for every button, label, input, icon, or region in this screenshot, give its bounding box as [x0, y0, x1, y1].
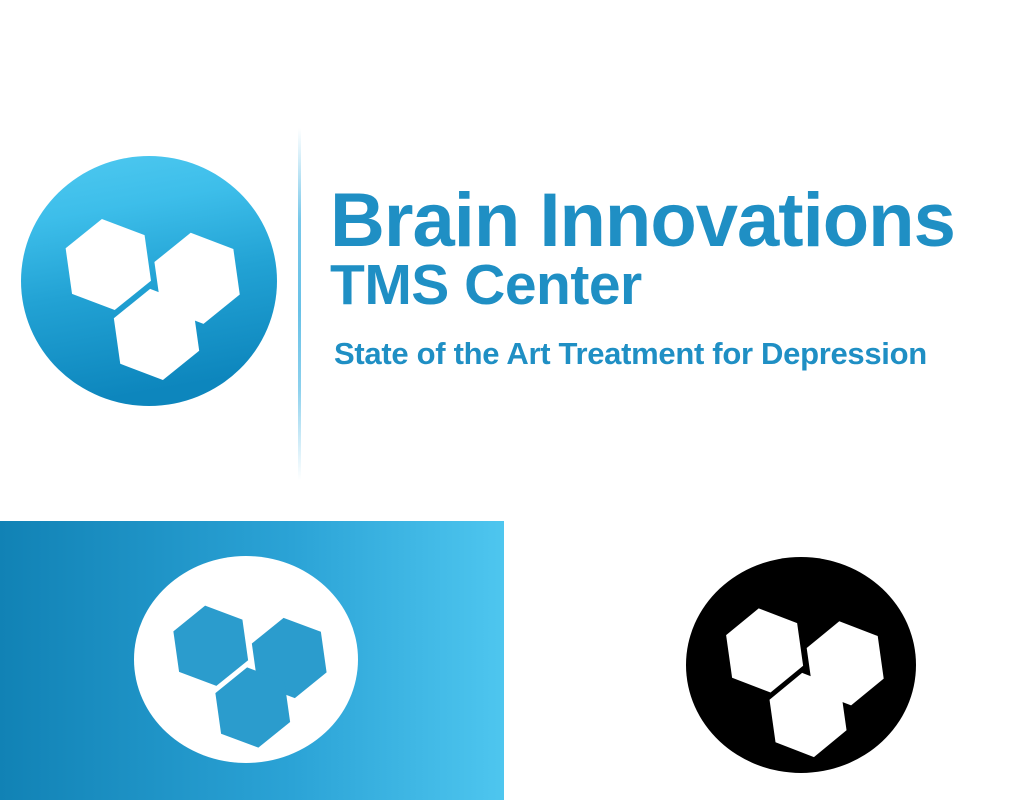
logo-sheet: Brain Innovations TMS Center State of th…	[0, 0, 1028, 800]
hexagon-cluster-circle-icon	[20, 155, 278, 407]
company-name: Brain Innovations	[330, 188, 1020, 253]
reversed-logo-panel	[0, 521, 504, 800]
hexagon-cluster-ellipse-black-icon	[685, 556, 917, 774]
division-name: TMS Center	[330, 255, 1020, 315]
vertical-fade-rule	[298, 128, 301, 480]
tagline: State of the Art Treatment for Depressio…	[334, 338, 1020, 369]
hexagon-cluster-ellipse-knockout-icon	[133, 555, 359, 764]
wordmark: Brain Innovations TMS Center State of th…	[330, 188, 1020, 369]
primary-logo-lockup: Brain Innovations TMS Center State of th…	[0, 110, 1028, 500]
